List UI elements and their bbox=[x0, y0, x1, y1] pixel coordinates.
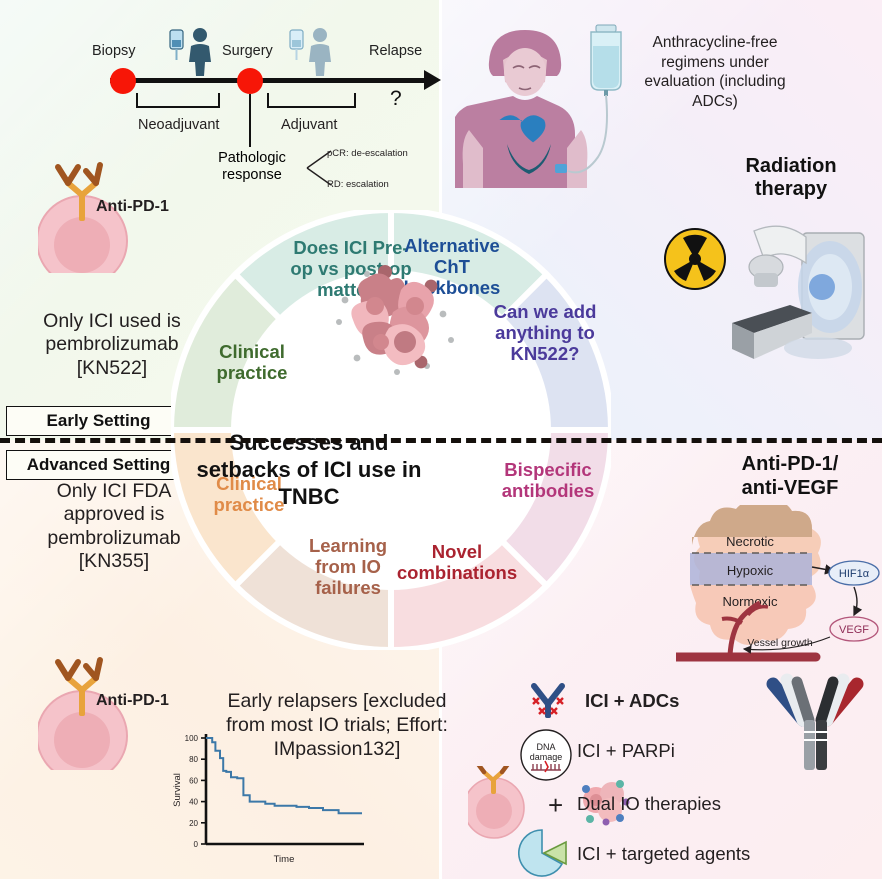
timeline-dot-biopsy bbox=[110, 68, 136, 94]
survival-chart: 020406080100 Survival Time bbox=[168, 728, 368, 868]
combination-item-4: ICI + targeted agents bbox=[577, 843, 750, 865]
horizontal-dashed-divider bbox=[0, 438, 882, 443]
plus-sign: + bbox=[548, 790, 563, 821]
bracket-adjuvant bbox=[267, 93, 356, 108]
timeline-dot-surgery bbox=[237, 68, 263, 94]
wheel-label-learning-io[interactable]: Learning from IO failures bbox=[293, 536, 403, 599]
anti-pd1-label-early: Anti-PD-1 bbox=[96, 198, 169, 216]
timeline-question-mark: ? bbox=[390, 87, 402, 111]
iv-patient-neoadjuvant-icon bbox=[166, 26, 224, 76]
iv-patient-adjuvant-icon bbox=[286, 26, 344, 76]
svg-text:Time: Time bbox=[274, 854, 295, 865]
svg-text:60: 60 bbox=[189, 776, 198, 785]
adc-antibody-icon bbox=[524, 678, 572, 724]
pathologic-response-label: Pathologic response bbox=[200, 150, 304, 183]
outcome-pcr-label: pCR: de-escalation bbox=[327, 148, 408, 159]
combination-item-1: ICI + ADCs bbox=[585, 690, 679, 712]
timeline-axis bbox=[110, 78, 430, 83]
radiation-hazard-icon bbox=[664, 228, 726, 290]
timeline-arrow-icon bbox=[424, 70, 441, 90]
vegf-pill-label: VEGF bbox=[839, 624, 869, 636]
tumor-microenvironment-diagram: Necrotic Hypoxic Normoxic HIF1α VEGF Ves… bbox=[676, 505, 882, 665]
timeline-label-adjuvant: Adjuvant bbox=[281, 117, 337, 134]
title-line-1: Anti-PD-1/anti-VEGF bbox=[742, 453, 839, 499]
linac-machine-icon bbox=[726, 215, 876, 375]
svg-text:40: 40 bbox=[189, 798, 198, 807]
dna-damage-line1: DNA bbox=[536, 742, 555, 752]
hif1a-pill-label: HIF1α bbox=[839, 568, 870, 580]
iv-bag-icon bbox=[584, 24, 628, 102]
combination-item-3: Dual IO therapies bbox=[577, 793, 721, 815]
advanced-setting-badge: Advanced Setting bbox=[6, 450, 191, 480]
anti-pd1-anti-vegf-title: Anti-PD-1/anti-VEGF bbox=[700, 452, 880, 500]
timeline-label-relapse: Relapse bbox=[369, 43, 422, 59]
zone-necrotic-label: Necrotic bbox=[726, 534, 774, 549]
wheel-label-novel-combinations[interactable]: Novel combinations bbox=[393, 542, 521, 584]
targeted-agent-icon bbox=[518, 828, 572, 878]
svg-text:80: 80 bbox=[189, 755, 198, 764]
bispecific-antibody-icon bbox=[757, 672, 875, 784]
zone-hypoxic-label: Hypoxic bbox=[727, 563, 774, 578]
figure-root: Biopsy Surgery Relapse ? Neoadjuvant Adj… bbox=[0, 0, 882, 879]
outcome-rd-label: RD: escalation bbox=[327, 179, 389, 190]
svg-text:100: 100 bbox=[185, 734, 199, 743]
svg-text:Survival: Survival bbox=[172, 773, 183, 807]
combination-item-2: ICI + PARPi bbox=[577, 740, 675, 762]
timeline-label-biopsy: Biopsy bbox=[92, 43, 136, 59]
early-setting-badge: Early Setting bbox=[6, 406, 191, 436]
dna-damage-line2: damage bbox=[530, 752, 563, 762]
anti-pd1-label-advanced: Anti-PD-1 bbox=[96, 692, 169, 710]
wheel-label-clinical-practice-early[interactable]: Clinical practice bbox=[199, 342, 305, 384]
pathologic-response-stem bbox=[249, 94, 251, 147]
svg-text:0: 0 bbox=[194, 840, 199, 849]
wheel-label-can-we-add[interactable]: Can we add anything to KN522? bbox=[493, 302, 597, 365]
wheel-label-bispecific[interactable]: Bispecific antibodies bbox=[489, 460, 607, 502]
timeline-label-surgery: Surgery bbox=[222, 43, 273, 59]
bracket-neoadjuvant bbox=[136, 93, 220, 108]
svg-text:20: 20 bbox=[189, 819, 198, 828]
anthracycline-note: Anthracycline-free regimens under evalua… bbox=[625, 33, 805, 111]
vessel-growth-label: Vessel growth bbox=[747, 637, 813, 649]
tumor-cluster-icon bbox=[327, 262, 467, 382]
timeline-label-neoadjuvant: Neoadjuvant bbox=[138, 117, 219, 134]
radiation-therapy-title: Radiation therapy bbox=[716, 155, 866, 201]
